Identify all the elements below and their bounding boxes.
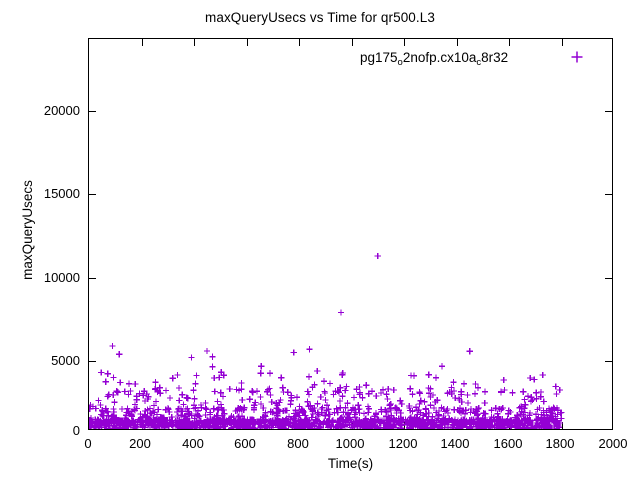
- legend: pg175o2nofp.cx10ac8r32: [360, 49, 508, 67]
- ytick-label-5000: 5000: [10, 354, 80, 368]
- scatter-points: [89, 39, 613, 430]
- legend-plus-marker: [570, 50, 584, 64]
- xtick-label-2000: 2000: [578, 437, 640, 451]
- gnuplot-chart: maxQueryUsecs vs Time for qr500.L3 20000…: [0, 0, 640, 480]
- legend-series-label: pg175o2nofp.cx10ac8r32: [360, 49, 508, 69]
- ytick-mark-0: [89, 429, 96, 430]
- ytick-label-20000: 20000: [10, 104, 80, 118]
- plot-area: [88, 38, 613, 430]
- page-title: maxQueryUsecs vs Time for qr500.L3: [0, 10, 640, 26]
- ytick-label-0: 0: [10, 424, 80, 438]
- y-axis-title: maxQueryUsecs: [20, 150, 36, 310]
- x-axis-title: Time(s): [88, 456, 613, 472]
